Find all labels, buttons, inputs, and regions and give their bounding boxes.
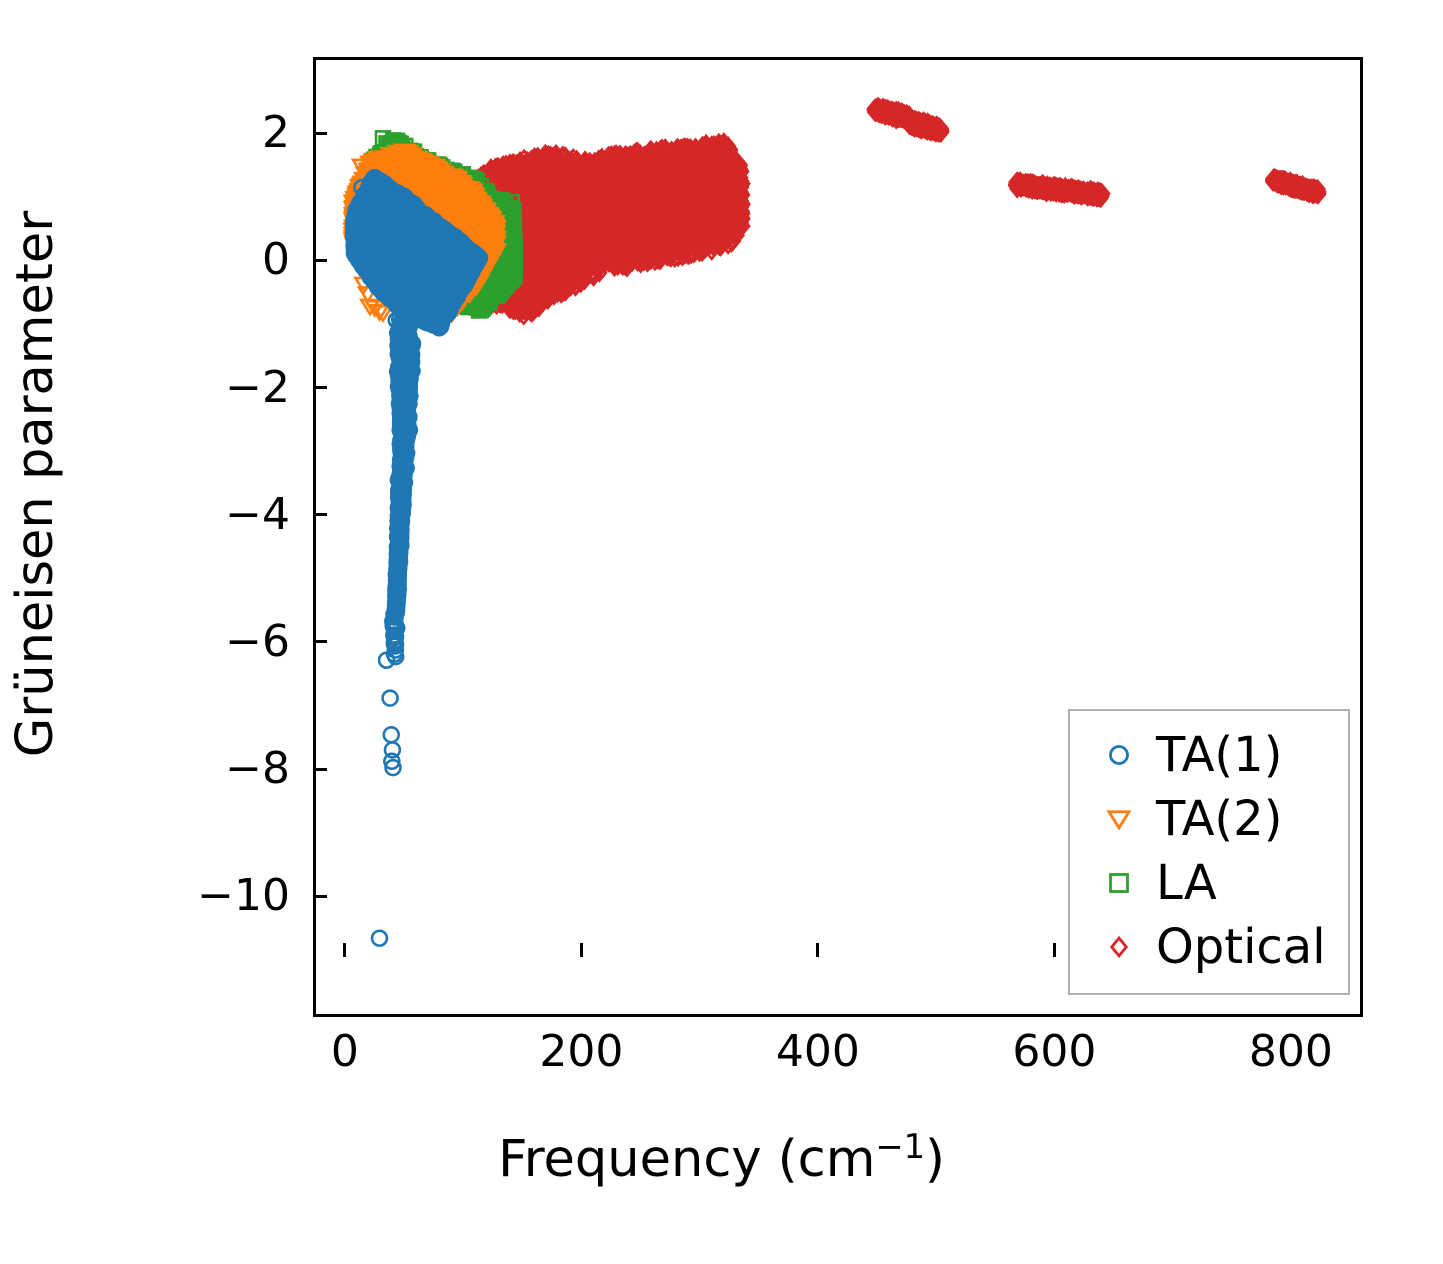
x-tick-400 [816, 943, 819, 957]
x-tick-600 [1053, 943, 1056, 957]
square-marker [1088, 866, 1150, 900]
legend[interactable]: TA(1)TA(2)LAOptical [1068, 709, 1350, 995]
y-tick-label--6: −6 [120, 620, 290, 664]
x-tick-label-0: 0 [331, 1030, 359, 1074]
x-axis-label-exponent: −1 [875, 1127, 925, 1166]
legend-entry-ta2[interactable]: TA(2) [1088, 787, 1326, 851]
legend-label: Optical [1150, 923, 1326, 971]
y-tick-label--4: −4 [120, 493, 290, 537]
y-tick--4 [313, 513, 327, 516]
figure-canvas: 0200400600800 20−2−4−6−8−10 Frequency (c… [0, 0, 1443, 1264]
x-tick-label-400: 400 [776, 1030, 860, 1074]
diamond-marker [1088, 930, 1150, 964]
y-tick-label-0: 0 [120, 238, 290, 282]
circle-marker [1088, 738, 1150, 772]
x-tick-200 [580, 943, 583, 957]
x-tick-label-600: 600 [1012, 1030, 1096, 1074]
y-tick-2 [313, 132, 327, 135]
y-tick--10 [313, 895, 327, 898]
series-ta1-points [346, 170, 487, 945]
legend-label: LA [1150, 859, 1217, 907]
y-tick-label-2: 2 [120, 111, 290, 155]
y-tick-label--10: −10 [120, 874, 290, 918]
legend-entry-la[interactable]: LA [1088, 851, 1326, 915]
x-axis-label-prefix: Frequency (cm [498, 1130, 875, 1189]
legend-entry-optical[interactable]: Optical [1088, 915, 1326, 979]
y-tick--8 [313, 768, 327, 771]
triangle-down-marker [1088, 802, 1150, 836]
y-tick-label--2: −2 [120, 366, 290, 410]
y-axis-label-wrapper: Grüneisen parameter [10, 134, 90, 834]
y-tick--2 [313, 386, 327, 389]
y-axis-label: Grüneisen parameter [10, 134, 61, 834]
x-axis-label-suffix: ) [925, 1130, 945, 1189]
legend-label: TA(1) [1150, 731, 1282, 779]
y-tick-0 [313, 259, 327, 262]
x-tick-label-200: 200 [539, 1030, 623, 1074]
legend-label: TA(2) [1150, 795, 1282, 843]
legend-entry-ta1[interactable]: TA(1) [1088, 723, 1326, 787]
series-optical-points [447, 99, 1325, 324]
x-tick-0 [343, 943, 346, 957]
x-axis-label: Frequency (cm−1) [0, 1130, 1443, 1189]
y-tick--6 [313, 640, 327, 643]
y-tick-label--8: −8 [120, 747, 290, 791]
x-tick-label-800: 800 [1249, 1030, 1333, 1074]
